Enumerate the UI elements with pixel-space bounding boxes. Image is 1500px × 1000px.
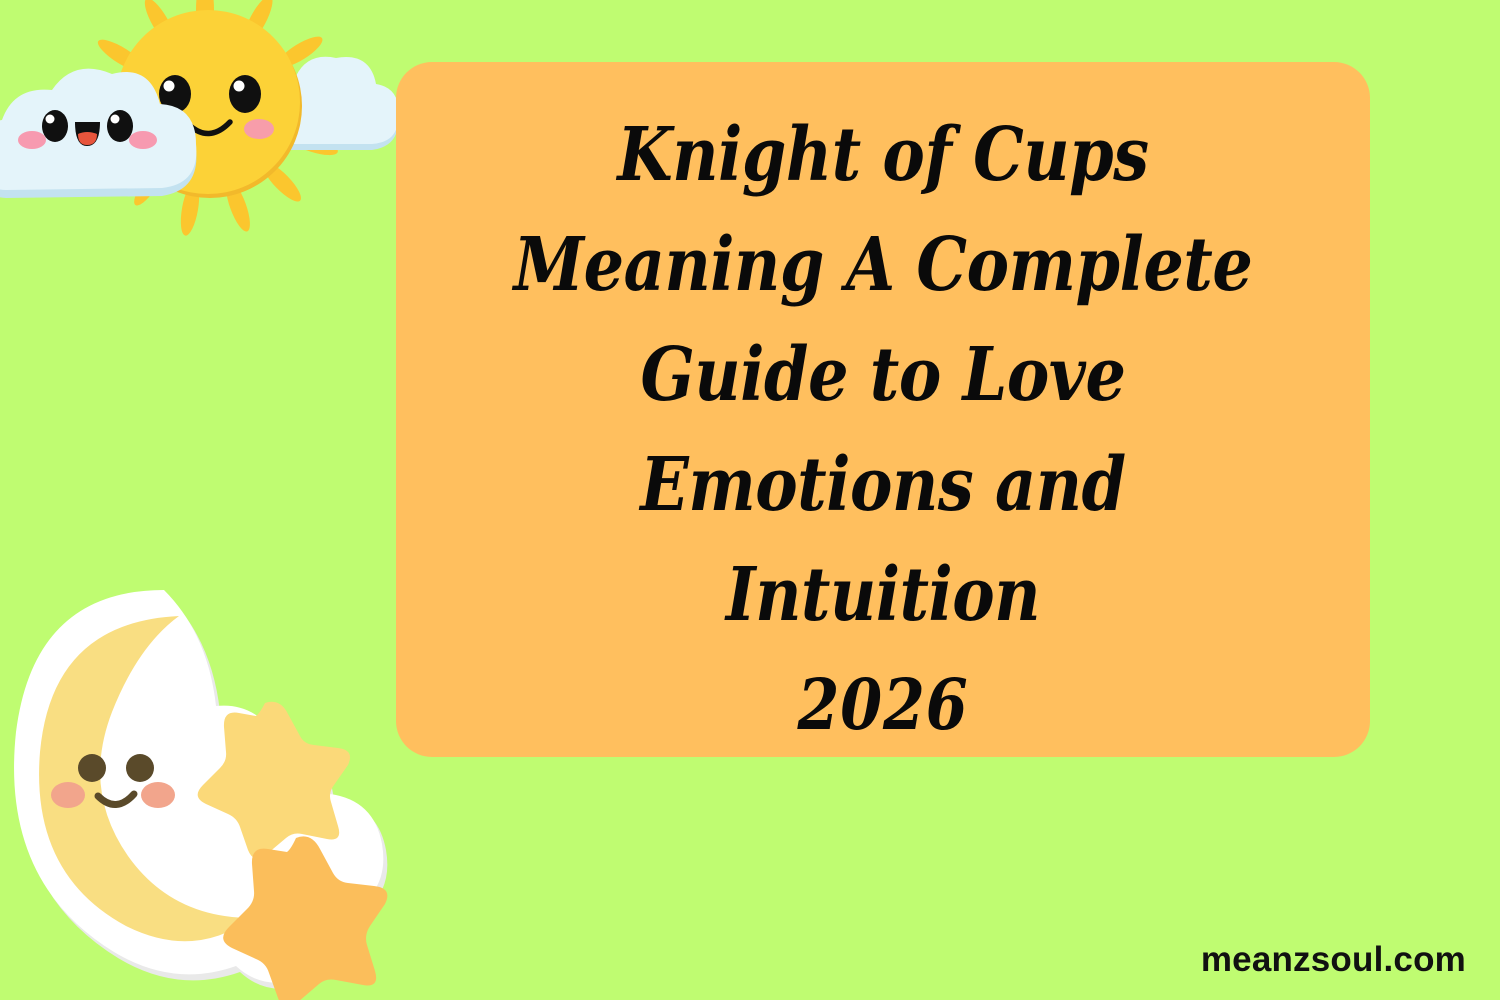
title-line-1: Knight of Cups xyxy=(464,100,1302,210)
site-watermark: meanzsoul.com xyxy=(1201,940,1466,980)
cloud-eyes-icon xyxy=(42,110,133,142)
moon-halo-icon xyxy=(14,590,387,989)
moon-cheek-left-icon xyxy=(51,782,85,808)
moon-and-stars-decoration xyxy=(8,588,418,1000)
cloud-left-icon xyxy=(0,69,196,198)
title-card: Knight of Cups Meaning A Complete Guide … xyxy=(396,62,1370,757)
crescent-moon-icon xyxy=(39,616,252,941)
cloud-mouth-icon xyxy=(75,122,100,146)
title-line-2: Meaning A Complete xyxy=(464,210,1302,320)
star-upper-icon xyxy=(198,702,350,859)
sun-icon xyxy=(116,10,302,198)
title-line-4: Emotions and xyxy=(464,430,1302,540)
moon-cheek-right-icon xyxy=(141,782,175,808)
star-lower-icon xyxy=(223,836,387,1000)
title-line-3: Guide to Love xyxy=(464,320,1302,430)
cloud-right-icon xyxy=(258,57,398,150)
sun-cheek-icon xyxy=(244,119,274,139)
moon-face-icon xyxy=(51,754,175,808)
title-line-5: Intuition xyxy=(464,540,1302,650)
sun-smile-icon xyxy=(188,122,230,134)
blog-thumbnail-canvas: Knight of Cups Meaning A Complete Guide … xyxy=(0,0,1500,1000)
sun-rays-icon xyxy=(74,0,345,237)
sun-eyes-icon xyxy=(159,75,261,113)
title-line-year: 2026 xyxy=(464,650,1302,760)
cloud-cheek-left-icon xyxy=(18,131,46,149)
sun-and-clouds-decoration xyxy=(0,0,400,254)
cloud-cheek-right-icon xyxy=(129,131,157,149)
